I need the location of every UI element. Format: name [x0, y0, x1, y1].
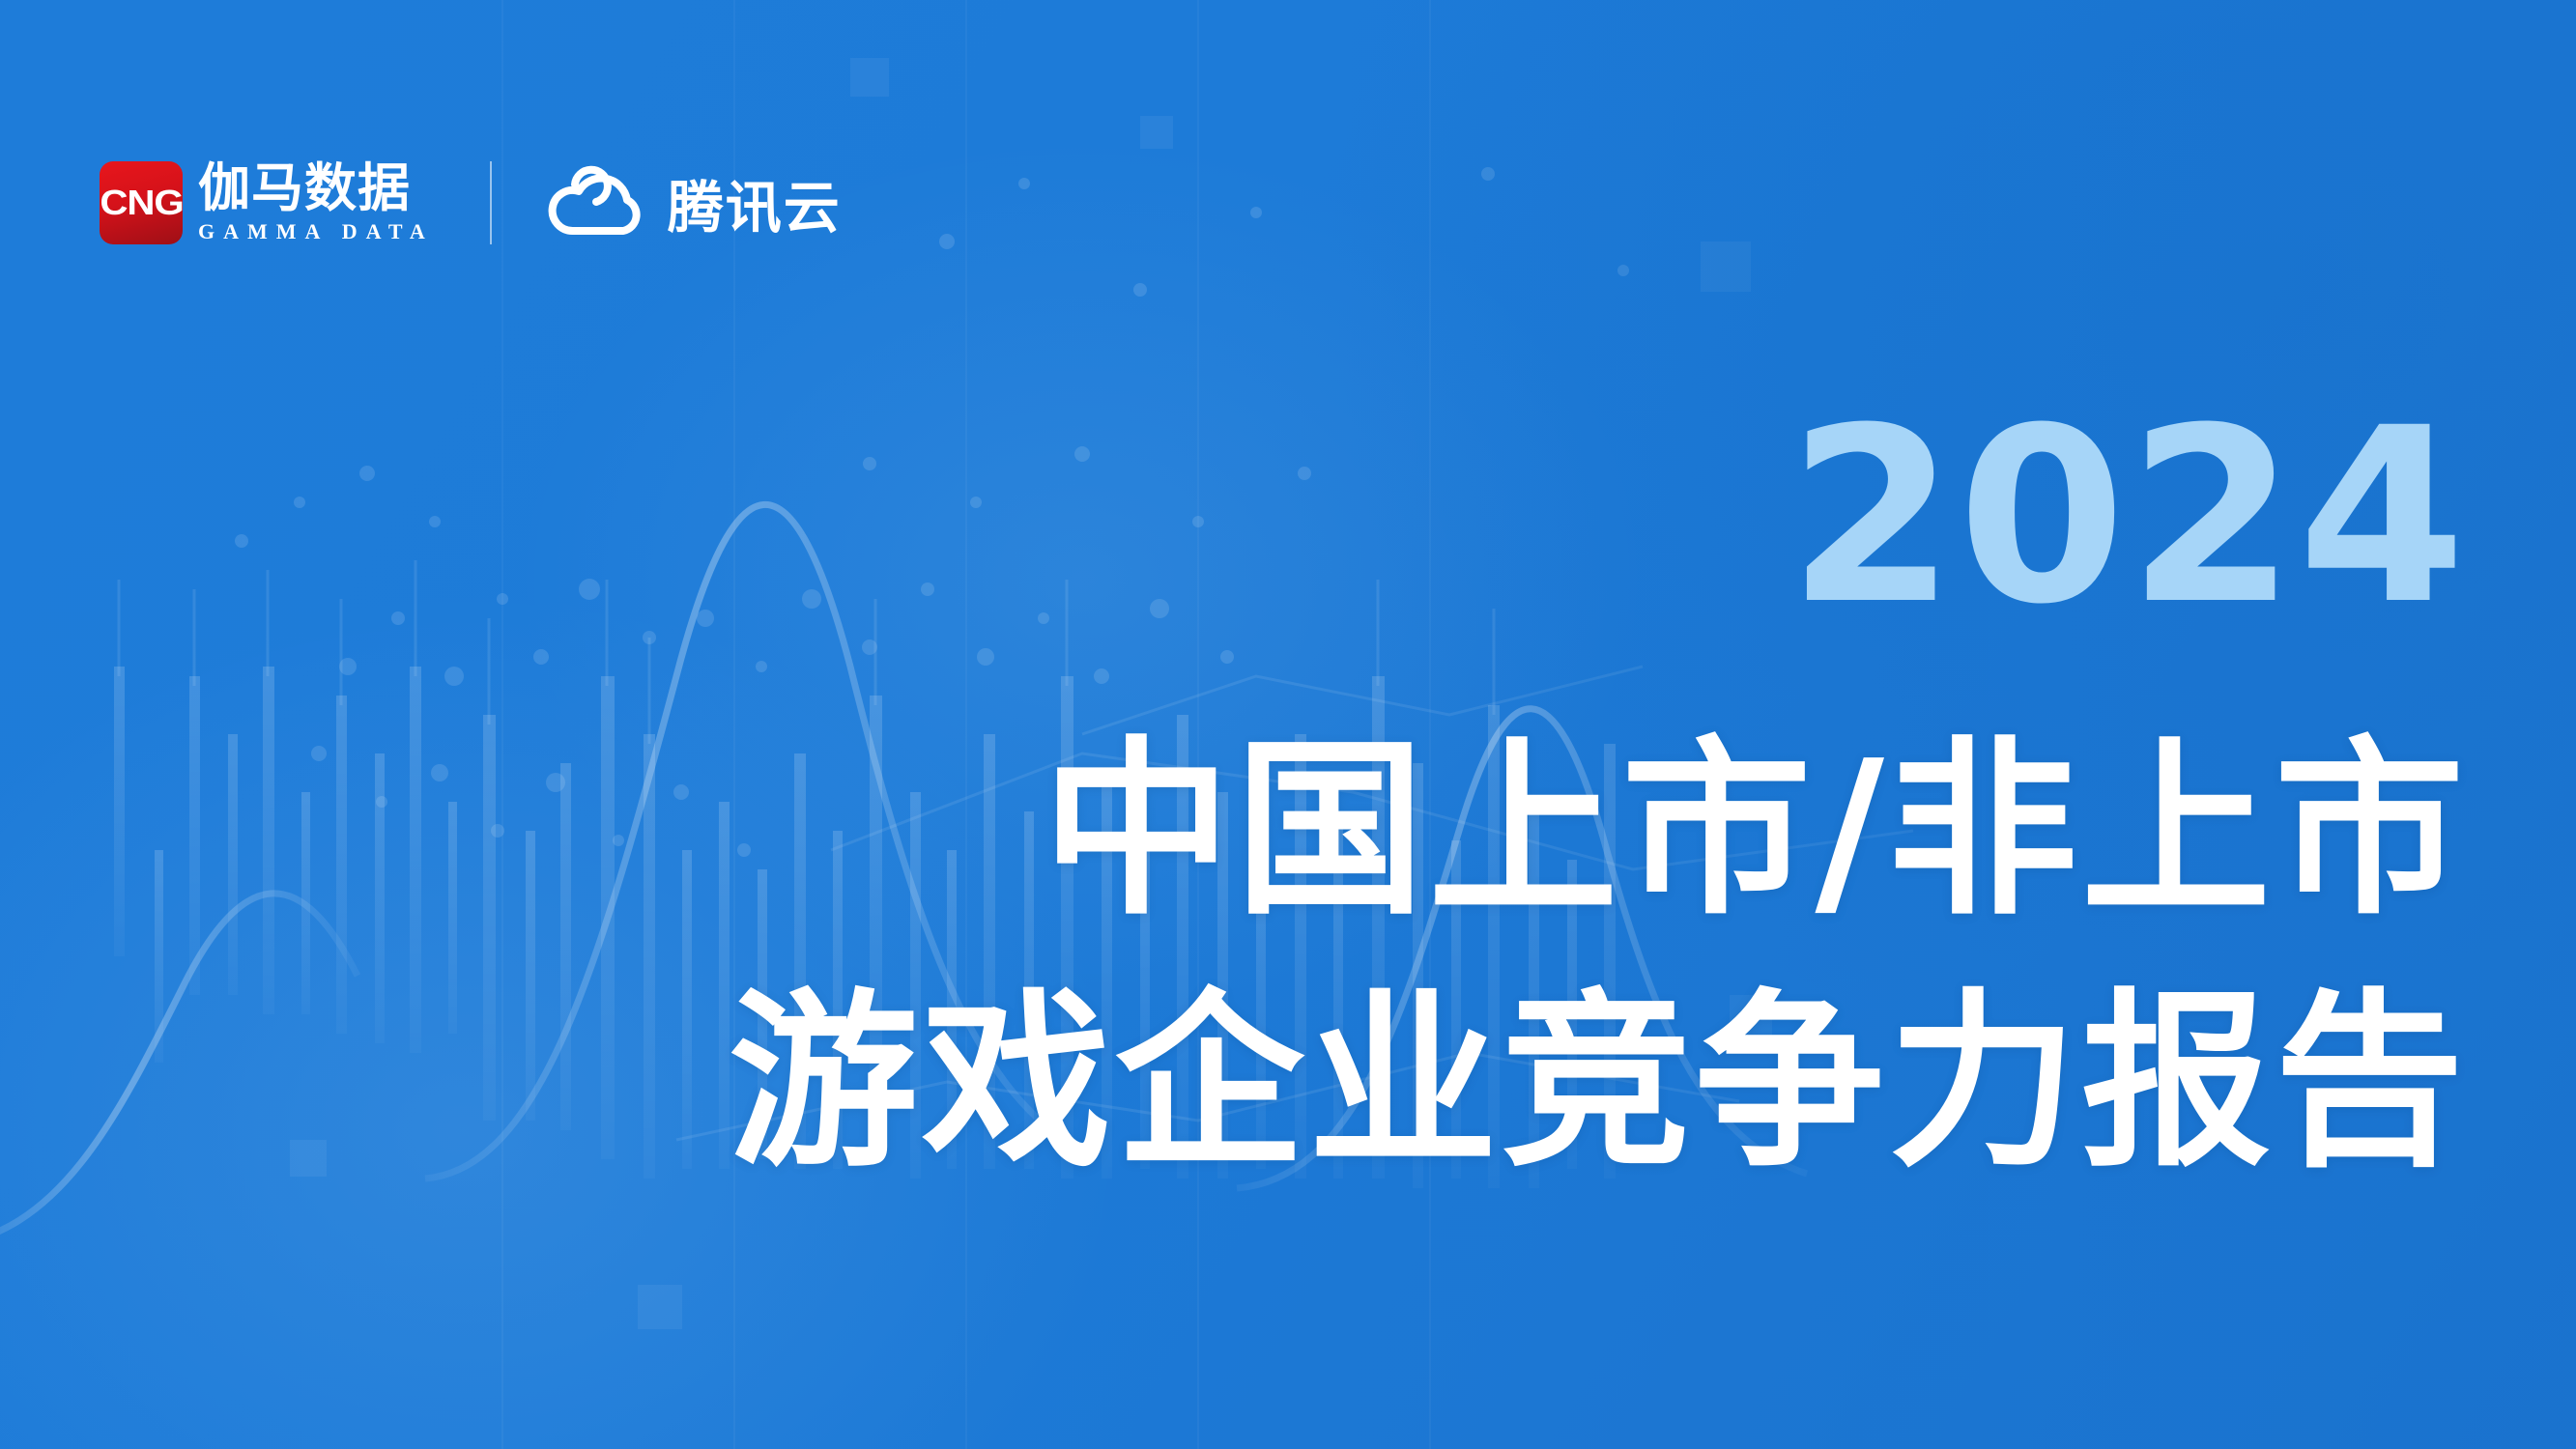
gamma-name-cn: 伽马数据 [198, 161, 434, 214]
cover-title-line-1: 中国上市/非上市 [729, 705, 2468, 957]
gamma-name-en: GAMMA DATA [198, 219, 434, 244]
tencent-cloud-logo: 腾讯云 [542, 162, 842, 243]
cover-year: 2024 [1788, 396, 2468, 638]
cloud-icon [542, 163, 646, 242]
gamma-data-logo: CNG 伽马数据 GAMMA DATA [100, 155, 434, 251]
cng-mark-icon: CNG [100, 161, 183, 244]
cng-mark-label: CNG [100, 183, 183, 223]
logo-divider [490, 161, 492, 244]
tencent-name-cn: 腾讯云 [668, 162, 842, 243]
report-cover: CNG 伽马数据 GAMMA DATA 腾讯云 2024 中国上市/非上市 游戏… [0, 0, 2576, 1449]
gamma-data-wordmark: 伽马数据 GAMMA DATA [198, 161, 434, 243]
cover-title: 中国上市/非上市 游戏企业竞争力报告 [729, 705, 2468, 1208]
cover-title-line-2: 游戏企业竞争力报告 [729, 957, 2468, 1209]
logo-bar: CNG 伽马数据 GAMMA DATA 腾讯云 [100, 145, 842, 261]
